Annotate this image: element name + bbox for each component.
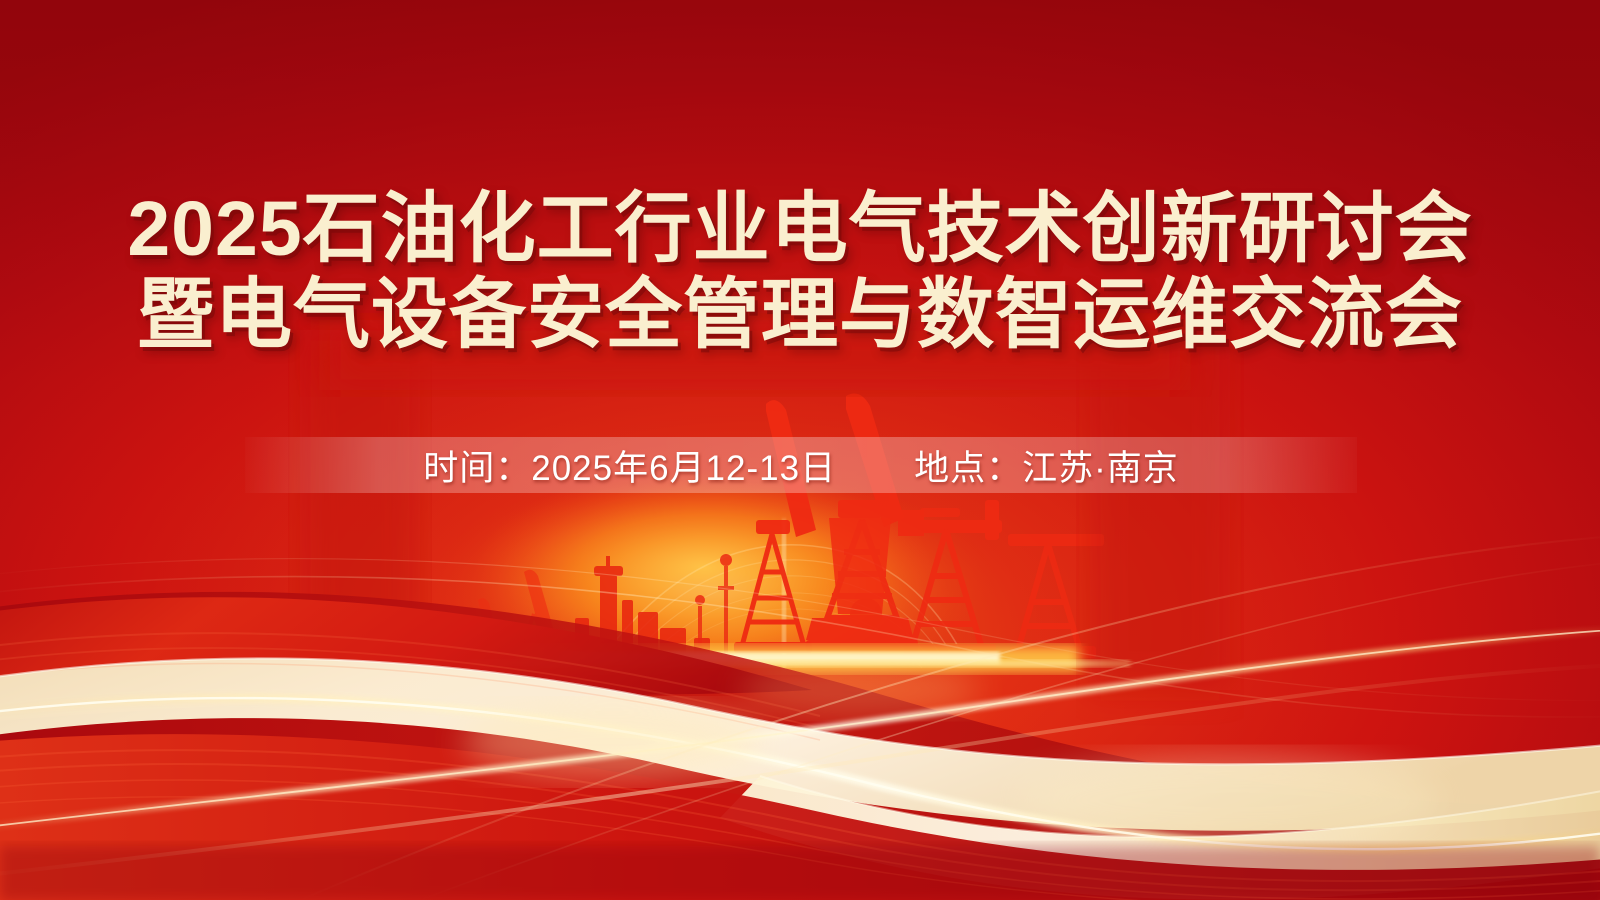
event-info-row: 时间：2025年6月12-13日 地点：江苏·南京 xyxy=(423,440,1179,491)
conference-banner: 2025石油化工行业电气技术创新研讨会 暨电气设备安全管理与数智运维交流会 时间… xyxy=(0,0,1600,900)
event-location: 地点：江苏·南京 xyxy=(914,440,1179,491)
event-info-band: 时间：2025年6月12-13日 地点：江苏·南京 xyxy=(245,437,1357,493)
event-date: 时间：2025年6月12-13日 xyxy=(423,440,836,491)
